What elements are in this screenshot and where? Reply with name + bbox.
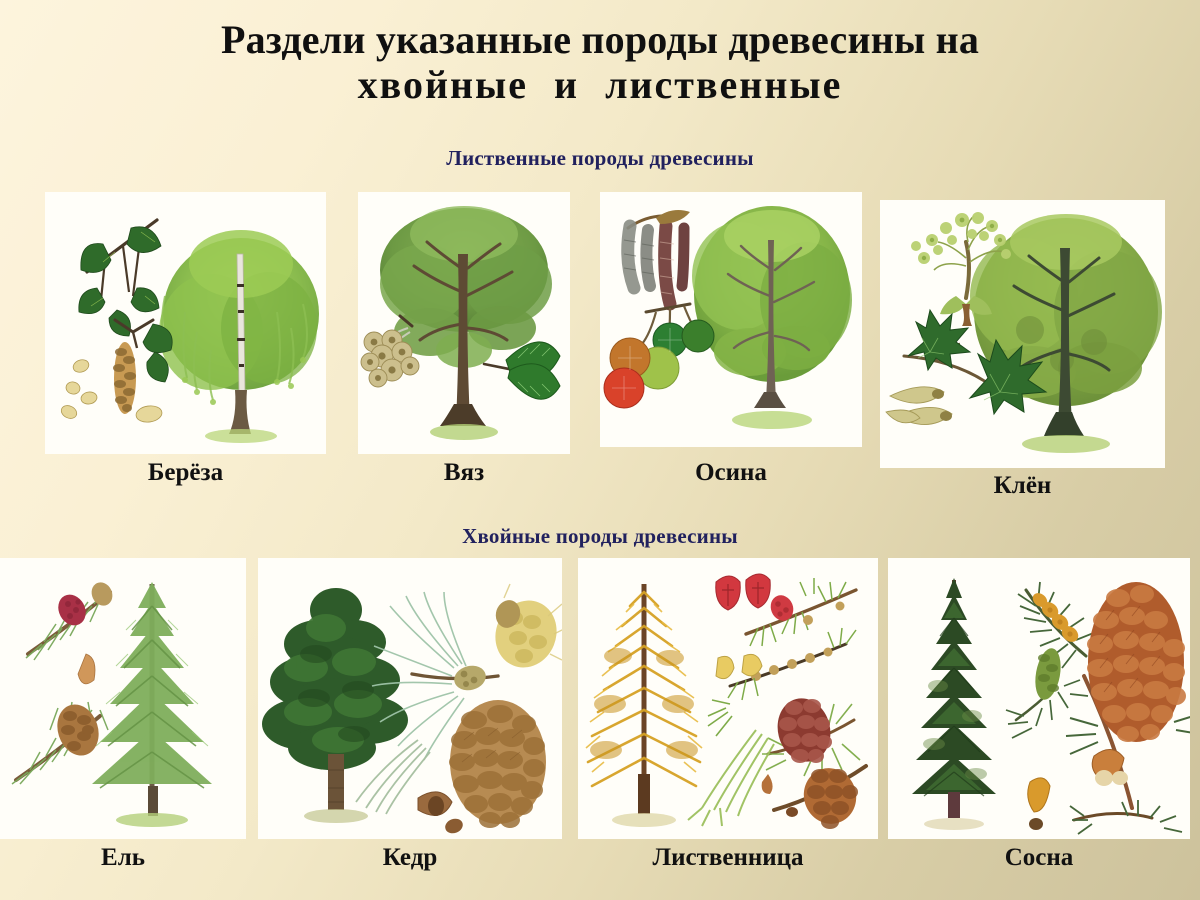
title-word-conifer: хвойные (358, 62, 528, 107)
caption-pine: Сосна (888, 844, 1190, 872)
title-word-deciduous: лиственные (605, 62, 842, 107)
elm-illustration (358, 192, 570, 454)
aspen-illustration (600, 192, 862, 447)
card-cedar[interactable] (258, 558, 562, 839)
card-larch[interactable] (578, 558, 878, 839)
card-spruce[interactable] (0, 558, 246, 839)
caption-spruce: Ель (0, 844, 246, 872)
section-heading-coniferous: Хвойные породы древесины (0, 524, 1200, 549)
title-line-2: хвойныеилиственные (0, 63, 1200, 108)
section-heading-deciduous: Лиственные породы древесины (0, 146, 1200, 171)
card-pine[interactable] (888, 558, 1190, 839)
caption-birch: Берёза (45, 459, 326, 487)
title-word-and: и (554, 62, 579, 107)
page-title: Раздели указанные породы древесины на хв… (0, 18, 1200, 108)
spruce-illustration (0, 558, 246, 839)
title-line-1: Раздели указанные породы древесины на (221, 17, 979, 62)
maple-illustration (880, 200, 1165, 468)
caption-cedar: Кедр (258, 844, 562, 872)
birch-illustration (45, 192, 326, 454)
cedar-illustration (258, 558, 562, 839)
caption-aspen: Осина (600, 459, 862, 487)
caption-maple: Клён (880, 472, 1165, 500)
caption-elm: Вяз (358, 459, 570, 487)
card-elm[interactable] (358, 192, 570, 454)
card-aspen[interactable] (600, 192, 862, 447)
caption-larch: Лиственница (578, 844, 878, 872)
slide-root: Раздели указанные породы древесины на хв… (0, 0, 1200, 900)
pine-illustration (888, 558, 1190, 839)
card-birch[interactable] (45, 192, 326, 454)
card-maple[interactable] (880, 200, 1165, 468)
larch-illustration (578, 558, 878, 839)
